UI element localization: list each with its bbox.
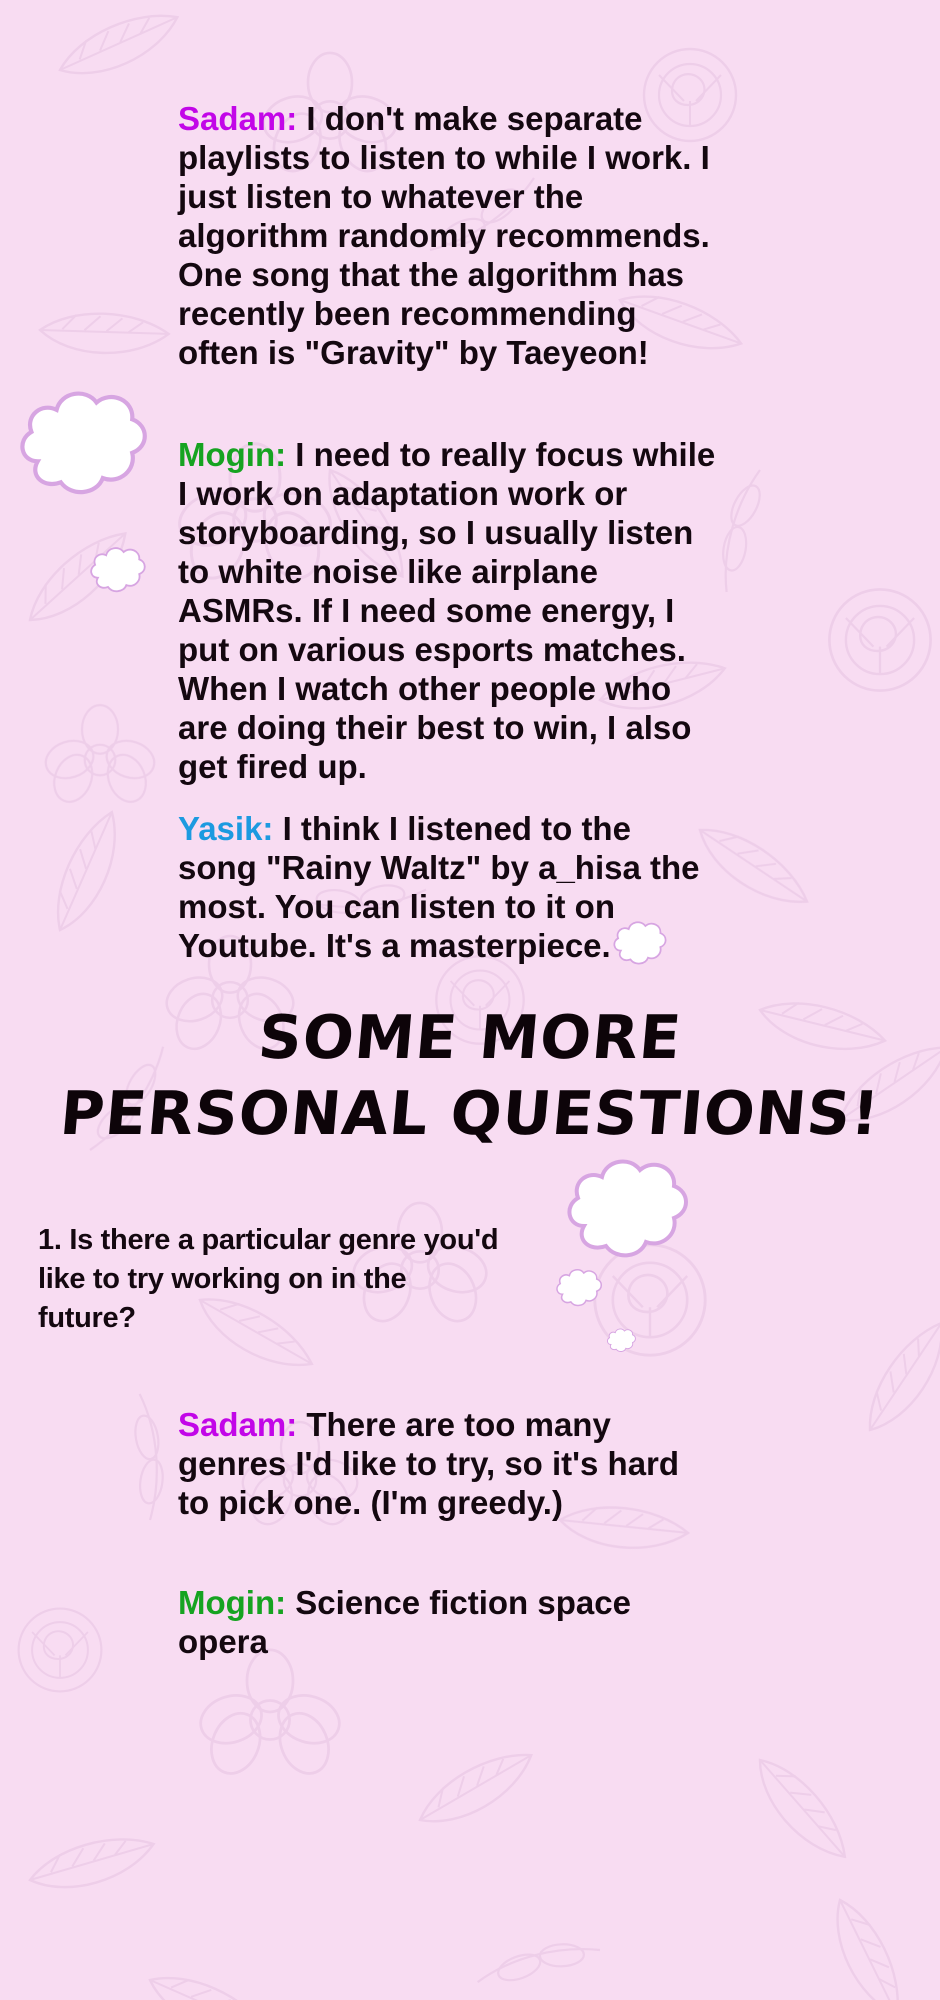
speaker-name-mogin: Mogin:	[178, 1584, 286, 1621]
cloud-bubble-small-left	[91, 548, 145, 591]
cloud-bubble-tiny-right	[557, 1270, 601, 1306]
answer-mogin-genre: Mogin: Science fiction space opera	[178, 1583, 718, 1661]
speaker-name-mogin: Mogin:	[178, 436, 286, 473]
answer-mogin-music: Mogin: I need to really focus while I wo…	[178, 435, 718, 786]
speaker-name-sadam: Sadam:	[178, 100, 297, 137]
answer-sadam-music: Sadam: I don't make separate playlists t…	[178, 99, 718, 372]
section-heading: SOME MORE PERSONAL QUESTIONS!	[0, 1000, 940, 1152]
section-heading-line-2: PERSONAL QUESTIONS!	[0, 1076, 940, 1152]
answer-text: I don't make separate playlists to liste…	[178, 100, 710, 371]
cloud-bubble-large-right	[569, 1162, 686, 1256]
answer-text: I need to really focus while I work on a…	[178, 436, 715, 785]
cloud-bubble-dot-right	[607, 1329, 635, 1352]
answer-yasik-music: Yasik: I think I listened to the song "R…	[178, 809, 718, 965]
answer-sadam-genre: Sadam: There are too many genres I'd lik…	[178, 1405, 718, 1522]
section-heading-line-1: SOME MORE	[0, 1000, 940, 1076]
speaker-name-sadam: Sadam:	[178, 1406, 297, 1443]
speaker-name-yasik: Yasik:	[178, 810, 273, 847]
cloud-bubble-large-left	[22, 394, 144, 493]
question-1: 1. Is there a particular genre you'd lik…	[38, 1221, 508, 1338]
